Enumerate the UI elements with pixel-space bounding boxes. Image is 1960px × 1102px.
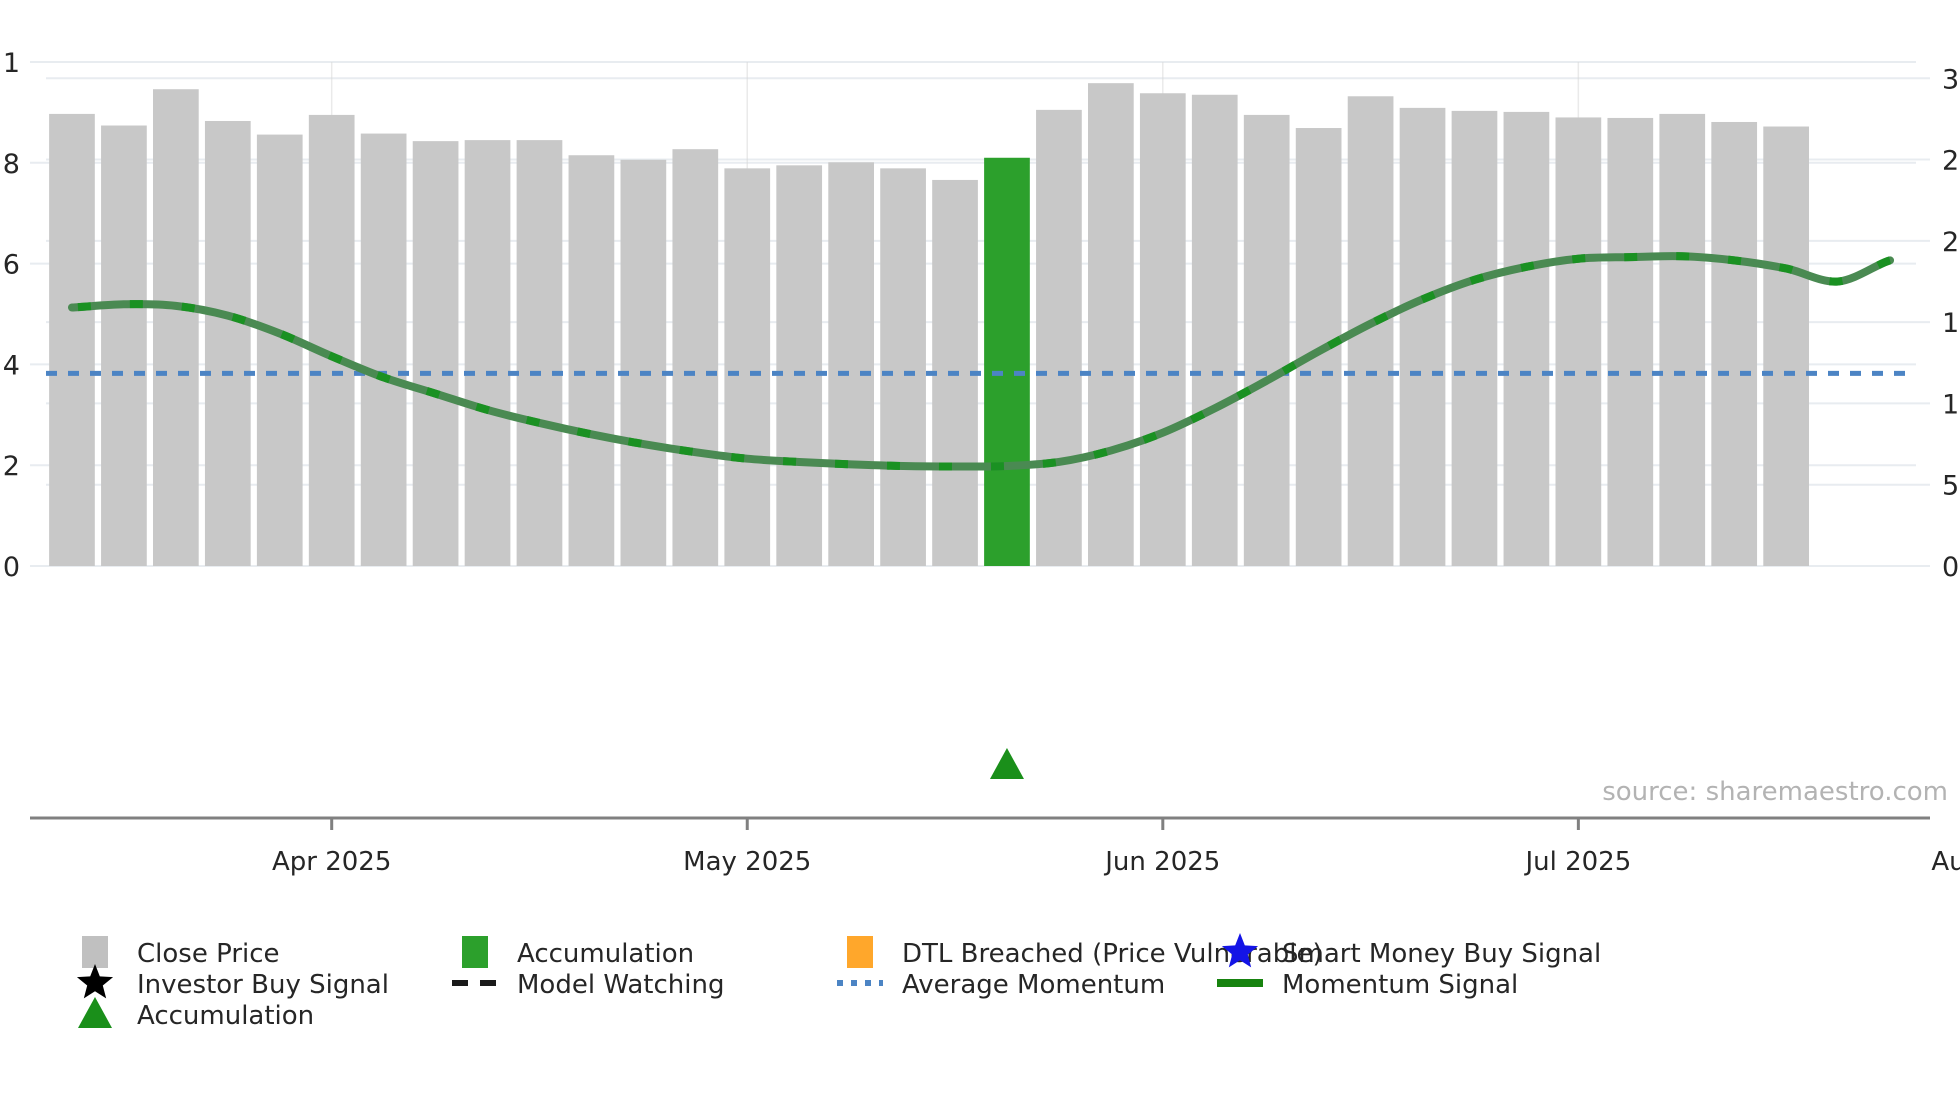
y-axis-left-tick-2: 0.4 — [0, 350, 20, 381]
bar-close-price — [309, 115, 355, 566]
bar-accumulation — [984, 158, 1030, 566]
legend-momentum-signal-label: Momentum Signal — [1282, 970, 1518, 1000]
legend-dtl-breached-label: DTL Breached (Price Vulnerable) — [902, 939, 1323, 969]
y-axis-right-tick-6: 30 — [1942, 64, 1960, 95]
legend-smart-money-buy-signal-label: Smart Money Buy Signal — [1282, 939, 1601, 969]
legend-investor-buy-signal-swatch — [77, 964, 113, 998]
bar-close-price — [621, 160, 667, 566]
legend-average-momentum-label: Average Momentum — [902, 970, 1165, 1000]
y-axis-right-tick-1: 5 — [1942, 471, 1959, 502]
legend-close-price-swatch — [82, 936, 108, 968]
y-axis-right-tick-0: 0 — [1942, 552, 1959, 583]
x-axis-labels: Apr 2025May 2025Jun 2025Jul 2025Aug 2025… — [272, 818, 1960, 877]
y-axis-right-labels: 051015202530 — [1942, 64, 1960, 583]
legend-accumulation-marker-swatch — [78, 997, 112, 1028]
bar-close-price — [1192, 95, 1238, 566]
x-axis-tick-label-1: May 2025 — [683, 847, 811, 877]
legend-momentum-signal[interactable]: Momentum Signal — [1217, 970, 1518, 1000]
bar-close-price — [672, 149, 718, 566]
legend-dtl-breached[interactable]: DTL Breached (Price Vulnerable) — [847, 936, 1323, 969]
legend-average-momentum[interactable]: Average Momentum — [837, 970, 1165, 1000]
legend-accumulation-marker[interactable]: Accumulation — [78, 997, 314, 1031]
y-axis-left-tick-4: 0.8 — [0, 149, 20, 180]
bar-close-price — [1452, 111, 1498, 566]
bar-close-price — [361, 134, 407, 566]
y-axis-right-tick-5: 25 — [1942, 146, 1960, 177]
source-label: source: sharemaestro.com — [1602, 777, 1948, 807]
bar-close-price — [413, 141, 459, 566]
bar-close-price — [1556, 117, 1602, 566]
legend-model-watching[interactable]: Model Watching — [452, 970, 724, 1000]
y-axis-left-tick-5: 1 — [3, 48, 20, 79]
legend-investor-buy-signal-label: Investor Buy Signal — [137, 970, 389, 1000]
legend-investor-buy-signal[interactable]: Investor Buy Signal — [77, 964, 389, 1000]
bar-close-price — [1088, 83, 1134, 566]
chart-root: 00.20.40.60.81051015202530Apr 2025May 20… — [0, 0, 1960, 1102]
bar-close-price — [153, 89, 199, 566]
bar-close-price — [1607, 118, 1653, 566]
bar-close-price — [828, 162, 874, 566]
momentum-accumulation-chart: 00.20.40.60.81051015202530Apr 2025May 20… — [0, 0, 1960, 1102]
legend: Close PriceAccumulationDTL Breached (Pri… — [77, 933, 1601, 1031]
bar-close-price — [1659, 114, 1705, 566]
bar-close-price — [101, 126, 147, 566]
bar-close-price — [1140, 93, 1186, 566]
marker-accumulation-triangle-0 — [990, 748, 1024, 779]
legend-close-price-label: Close Price — [137, 939, 280, 969]
x-axis-tick-label-4: Aug 2025 — [1931, 847, 1960, 877]
legend-accumulation-bar-label: Accumulation — [517, 939, 694, 969]
bar-close-price — [517, 140, 563, 566]
bar-series — [49, 83, 1809, 566]
bar-close-price — [1400, 108, 1446, 566]
legend-accumulation-bar[interactable]: Accumulation — [462, 936, 694, 969]
bar-close-price — [1504, 112, 1550, 566]
legend-accumulation-bar-swatch — [462, 936, 488, 968]
bar-close-price — [880, 168, 926, 566]
x-axis-tick-label-0: Apr 2025 — [272, 847, 391, 877]
bar-close-price — [257, 135, 303, 566]
y-axis-left-tick-3: 0.6 — [0, 250, 20, 281]
y-axis-left-labels: 00.20.40.60.81 — [0, 48, 20, 583]
x-axis-tick-label-3: Jul 2025 — [1523, 847, 1631, 877]
bar-close-price — [569, 155, 615, 566]
y-axis-left-tick-1: 0.2 — [0, 451, 20, 482]
y-axis-left-tick-0: 0 — [3, 552, 20, 583]
bar-close-price — [724, 168, 770, 566]
bar-close-price — [1711, 122, 1757, 566]
y-axis-right-tick-3: 15 — [1942, 308, 1960, 339]
bar-close-price — [1244, 115, 1290, 566]
legend-close-price[interactable]: Close Price — [82, 936, 280, 969]
bar-close-price — [1763, 127, 1809, 566]
legend-dtl-breached-swatch — [847, 936, 873, 968]
bar-close-price — [465, 140, 511, 566]
y-axis-right-tick-2: 10 — [1942, 389, 1960, 420]
bar-close-price — [49, 114, 95, 566]
legend-accumulation-marker-label: Accumulation — [137, 1001, 314, 1031]
y-axis-right-tick-4: 20 — [1942, 227, 1960, 258]
x-axis-tick-label-2: Jun 2025 — [1103, 847, 1220, 877]
legend-model-watching-label: Model Watching — [517, 970, 724, 1000]
bar-close-price — [1036, 110, 1082, 566]
bar-close-price — [205, 121, 251, 566]
bar-close-price — [776, 165, 822, 566]
signal-markers — [990, 748, 1024, 779]
